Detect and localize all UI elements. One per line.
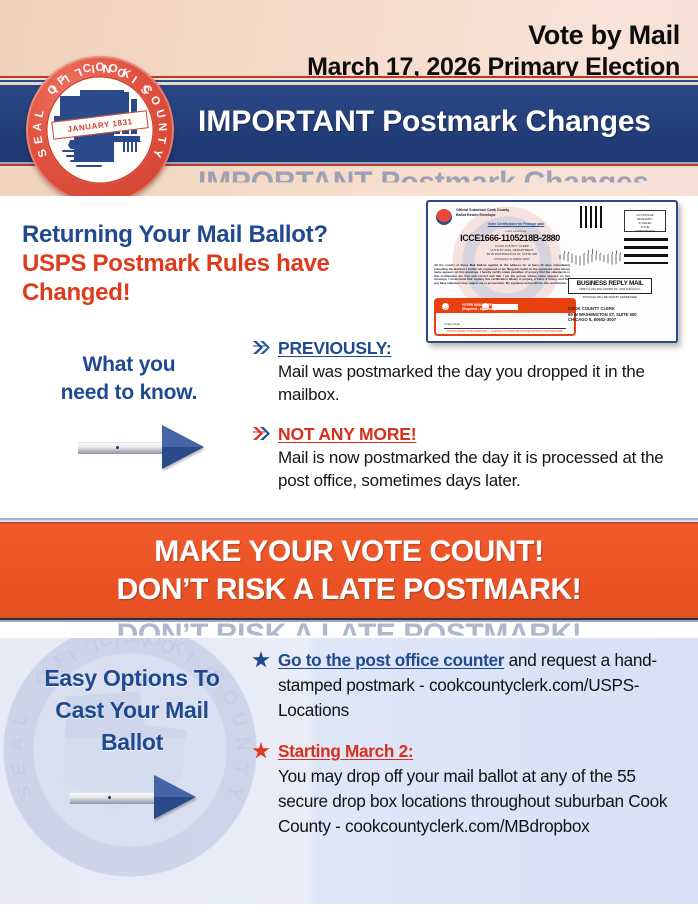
star-blue-icon bbox=[252, 651, 270, 669]
starting-march-2-heading: Starting March 2: bbox=[278, 741, 413, 761]
header-section: Vote by Mail March 17, 2026 Primary Elec… bbox=[0, 0, 698, 196]
whatyou-line1: What you bbox=[34, 351, 224, 379]
list-item: PREVIOUSLY: Mail was postmarked the day … bbox=[252, 338, 684, 406]
banner-line1: MAKE YOUR VOTE COUNT! bbox=[154, 533, 543, 571]
list-item: Go to the post office counter and reques… bbox=[252, 648, 688, 723]
easy-options-line3: Ballot bbox=[16, 726, 248, 758]
seal-wave bbox=[62, 150, 106, 152]
list-item-body: Mail was postmarked the day you dropped … bbox=[278, 360, 684, 406]
envelope-barcode-right bbox=[624, 238, 668, 264]
envelope-return-label: Official Suburban Cook County Ballot Ret… bbox=[456, 208, 568, 218]
business-reply-mail-block: BUSINESS REPLY MAIL FIRST-CLASS MAIL PER… bbox=[568, 278, 652, 294]
flyer-page: Vote by Mail March 17, 2026 Primary Elec… bbox=[0, 0, 698, 912]
drop-box-detail: You may drop off your mail ballot at any… bbox=[278, 764, 688, 839]
seal-inner-disc: JANUARY 1831 bbox=[46, 76, 154, 184]
seal-temple-icon bbox=[120, 136, 142, 152]
easy-options-list: Go to the post office counter and reques… bbox=[252, 648, 688, 855]
signature-marker-dot bbox=[482, 303, 489, 310]
middle-heading-alert-line2: Changed! bbox=[22, 278, 330, 307]
post-office-counter-link[interactable]: Go to the post office counter bbox=[278, 650, 504, 670]
blue-banner-strong: IMPORTANT bbox=[198, 105, 374, 138]
seal-wave bbox=[70, 160, 104, 162]
brm-subtitle: FIRST-CLASS MAIL PERMIT NO. 2203 CHICAGO… bbox=[569, 288, 651, 291]
bottom-section: SEAL OF COOK COUNTY ILLINOIS Easy Option… bbox=[0, 638, 698, 904]
list-item-title: PREVIOUSLY: bbox=[278, 338, 392, 359]
envelope-return-line2: Ballot Return Envelope bbox=[456, 213, 568, 218]
envelope-clerk-logo-icon bbox=[436, 209, 452, 225]
list-item-title: NOT ANY MORE! bbox=[278, 424, 416, 445]
envelope-barcode-top bbox=[580, 206, 604, 228]
header-title-line1: Vote by Mail bbox=[307, 20, 680, 51]
signature-line bbox=[444, 328, 566, 329]
list-item: NOT ANY MORE! Mail is now postmarked the… bbox=[252, 424, 684, 492]
call-to-action-banner-wrapper: MAKE YOUR VOTE COUNT! DON’T RISK A LATE … bbox=[0, 518, 698, 638]
middle-section: Returning Your Mail Ballot? USPS Postmar… bbox=[0, 196, 698, 518]
list-item: Starting March 2:You may drop off your m… bbox=[252, 739, 688, 839]
envelope-permit-imprint: NO POSTAGE NECESSARY IF MAILED IN THE UN… bbox=[624, 210, 666, 232]
signature-line-label: Today's Date bbox=[444, 322, 460, 326]
envelope-legal-text: All the results of these Mail Ballots ap… bbox=[434, 264, 570, 286]
blue-banner-title: IMPORTANT Postmark Changes bbox=[198, 105, 651, 139]
ghost-echo-banner-title: IMPORTANT Postmark Changes bbox=[198, 166, 649, 196]
envelope-mailing-address: COOK COUNTY CLERK 69 W WASHINGTON ST, SU… bbox=[568, 306, 668, 323]
postmark-rules-list: PREVIOUSLY: Mail was postmarked the day … bbox=[252, 338, 684, 510]
signature-date-field bbox=[492, 304, 518, 310]
list-item-text: Go to the post office counter and reques… bbox=[278, 648, 688, 723]
envelope-signature-box: VOTER SIGNATURE (Required - sign here) T… bbox=[434, 298, 576, 336]
double-chevron-blue-icon bbox=[252, 339, 272, 356]
header-title: Vote by Mail March 17, 2026 Primary Elec… bbox=[307, 20, 680, 83]
seal-wave bbox=[76, 165, 102, 167]
banner-line2: DON’T RISK A LATE POSTMARK! bbox=[117, 571, 582, 609]
list-item-text: Starting March 2:You may drop off your m… bbox=[278, 739, 688, 839]
ballot-return-envelope-image: Official Suburban Cook County Ballot Ret… bbox=[426, 200, 678, 343]
middle-heading: Returning Your Mail Ballot? USPS Postmar… bbox=[22, 220, 330, 307]
whatyou-line2: need to know. bbox=[34, 379, 224, 407]
double-chevron-red-icon bbox=[252, 425, 272, 442]
blue-banner-light: Postmark Changes bbox=[374, 105, 651, 138]
envelope-id-code: ICCE1666-1105218B-2880 bbox=[454, 233, 566, 243]
envelope-certification-link: Voter Certification for Postage paid bbox=[464, 222, 568, 226]
what-you-need-to-know: What you need to know. bbox=[34, 351, 224, 407]
easy-options-line1: Easy Options To bbox=[16, 662, 248, 694]
seal-wave bbox=[66, 155, 106, 157]
brm-postage-note: POSTAGE WILL BE PAID BY ADDRESSEE bbox=[568, 295, 652, 299]
signature-warning-text: DO NOT FORGET TO SIGN AND DATE — YOUR BA… bbox=[438, 330, 572, 333]
list-item-body: Mail is now postmarked the day it is pro… bbox=[278, 446, 684, 492]
page-bottom-white-strip bbox=[0, 904, 698, 912]
seal-date-text: JANUARY 1831 bbox=[67, 117, 133, 134]
signature-marker-dot bbox=[442, 303, 449, 310]
envelope-return-address: COOK COUNTY CLERK VOTE BY MAIL DEPARTMEN… bbox=[462, 244, 562, 261]
star-red-icon bbox=[252, 742, 270, 760]
cook-county-seal: JANUARY 1831 SEAL OF COOK COUNTY ILLINOI… bbox=[26, 56, 174, 196]
call-to-action-banner: MAKE YOUR VOTE COUNT! DON’T RISK A LATE … bbox=[0, 524, 698, 618]
easy-options-title: Easy Options To Cast Your Mail Ballot bbox=[16, 662, 248, 758]
signature-box-label: VOTER SIGNATURE (Required - sign here) bbox=[462, 303, 495, 311]
middle-heading-alert-line1: USPS Postmark Rules have bbox=[22, 249, 330, 278]
easy-options-line2: Cast Your Mail bbox=[16, 694, 248, 726]
brm-title: BUSINESS REPLY MAIL bbox=[569, 280, 651, 287]
middle-heading-question: Returning Your Mail Ballot? bbox=[22, 220, 330, 249]
